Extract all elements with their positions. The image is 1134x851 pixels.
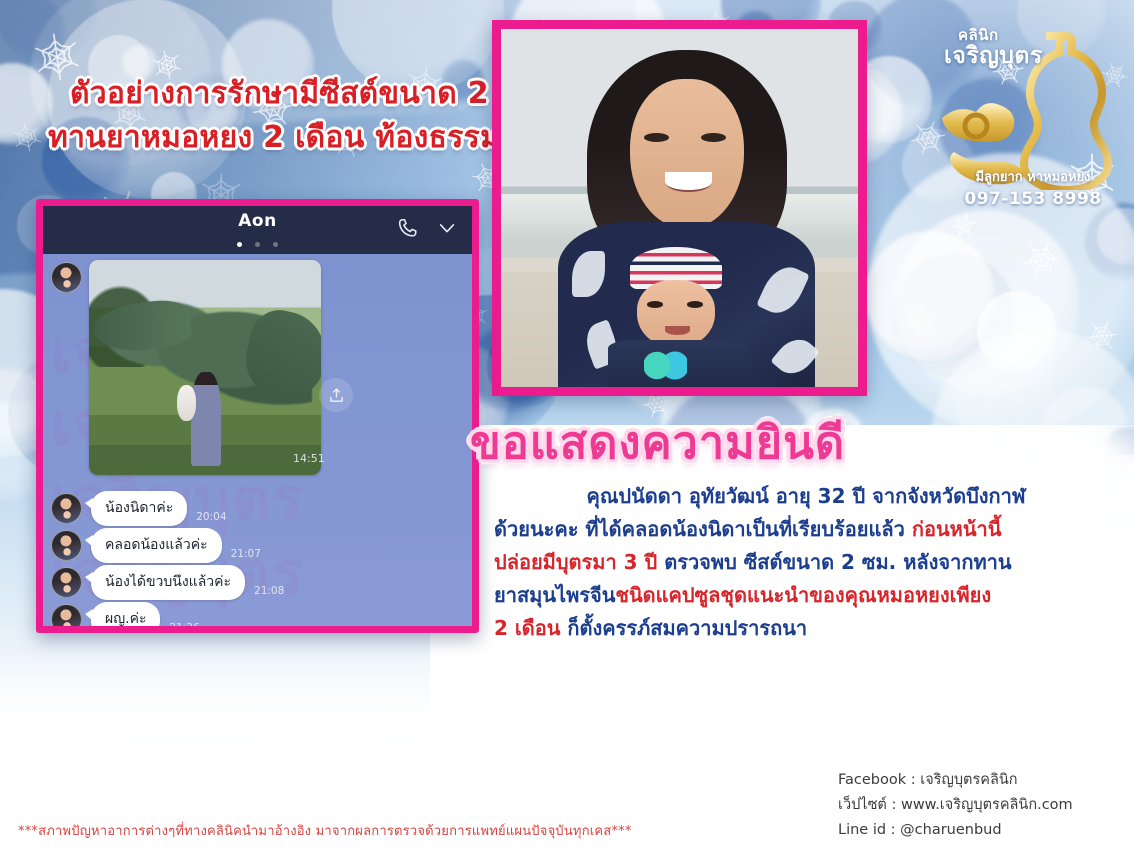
poster-root: ตัวอย่างการรักษามีซีสต์ขนาด 2 ซม. ทานยาห…	[0, 0, 1134, 851]
chat-photo-message[interactable]	[51, 260, 321, 475]
body-line-3b: ตรวจพบ ซีสต์ขนาด 2 ซม. หลังจากทาน	[657, 550, 1011, 574]
message-bubble[interactable]: น้องได้ขวบนึงแล้วค่ะ	[91, 565, 245, 600]
body-line-3a: ปล่อยมีบุตรมา 3 ปี	[494, 550, 657, 574]
body-line-2a: ด้วยนะคะ ที่ได้คลอดน้องนิดาเป็นที่เรียบร…	[494, 517, 912, 541]
page-dot-2[interactable]	[255, 242, 260, 247]
chevron-down-icon[interactable]	[436, 217, 458, 239]
chat-header: Aon	[43, 206, 472, 254]
message-timestamp: 21:26	[169, 622, 199, 633]
page-dot-3[interactable]	[273, 242, 278, 247]
message-timestamp: 20:04	[196, 511, 226, 526]
avatar	[51, 567, 82, 598]
avatar	[51, 262, 82, 293]
contact-website[interactable]: เว็ปไซต์ : www.เจริญบุตรคลินิก.com	[838, 793, 1073, 818]
avatar	[51, 530, 82, 561]
headline-line-1: ตัวอย่างการรักษามีซีสต์ขนาด 2 ซม.	[70, 72, 508, 116]
logo-tagline: มีลูกยาก หาหมอหยง	[940, 166, 1126, 187]
message-bubble[interactable]: น้องนิดาค่ะ	[91, 491, 187, 526]
chat-screenshot-card: Aon เจริญบุตร	[36, 199, 479, 633]
clinic-logo: คลินิก เจริญบุตร มีลูกยาก หาหมอหยง 097-1…	[940, 16, 1126, 221]
page-title: ตัวอย่างการรักษามีซีสต์ขนาด 2 ซม. ทานยาห…	[48, 72, 508, 160]
baby-eye-right	[687, 301, 703, 307]
message-timestamp: 21:07	[231, 548, 261, 563]
disclaimer-text: ***สภาพปัญหาอาการต่างๆที่ทางคลินิคนำมาอ้…	[18, 820, 632, 841]
message-timestamp: 21:08	[254, 585, 284, 600]
baby-eye-left	[647, 301, 663, 307]
message-bubble[interactable]: คลอดน้องแล้วค่ะ	[91, 528, 222, 563]
contact-block: Facebook : เจริญบุตรคลินิก เว็ปไซต์ : ww…	[838, 768, 1073, 843]
congratulations-heading: ขอแสดงความยินดี	[470, 406, 845, 478]
mother-face	[630, 79, 744, 229]
logo-wordmark: คลินิก เจริญบุตร	[944, 28, 1043, 68]
chat-photo-thumbnail[interactable]	[89, 260, 321, 475]
chat-message-row[interactable]: ผญ.ค่ะ 21:26	[51, 602, 200, 633]
logo-word-top: คลินิก	[958, 28, 1043, 44]
chat-message-row[interactable]: น้องนิดาค่ะ 20:04	[51, 491, 227, 526]
body-line-5: 2 เดือน ก็ตั้งครรภ์สมความปรารถนา	[494, 612, 1118, 645]
body-line-2: ด้วยนะคะ ที่ได้คลอดน้องนิดาเป็นที่เรียบร…	[494, 513, 1118, 546]
photo-woman	[191, 372, 221, 467]
contact-line-id[interactable]: Line id : @charuenbud	[838, 818, 1073, 843]
body-line-4: ยาสมุนไพรจีนชนิดแคปซูลชุดแนะนำของคุณหมอห…	[494, 579, 1118, 612]
avatar	[51, 493, 82, 524]
mother-smile	[665, 172, 711, 192]
share-upload-icon[interactable]	[319, 378, 353, 412]
body-line-4b: ชนิดแคปซูลชุดแนะนำของคุณหมอหยงเพียง	[615, 583, 991, 607]
contact-facebook[interactable]: Facebook : เจริญบุตรคลินิก	[838, 768, 1073, 793]
page-dot-1[interactable]	[237, 242, 242, 247]
chat-message-row[interactable]: น้องได้ขวบนึงแล้วค่ะ 21:08	[51, 565, 284, 600]
chat-photo-timestamp: 14:51	[293, 452, 325, 465]
baby-face	[637, 280, 716, 348]
body-line-4a: ยาสมุนไพรจีน	[494, 583, 615, 607]
body-line-5a: 2 เดือน	[494, 616, 560, 640]
testimonial-paragraph: คุณปนัดดา อุทัยวัฒน์ อายุ 32 ปี จากจังหว…	[494, 480, 1118, 645]
message-bubble[interactable]: ผญ.ค่ะ	[91, 602, 160, 633]
phone-call-icon[interactable]	[396, 217, 418, 239]
body-line-1: คุณปนัดดา อุทัยวัฒน์ อายุ 32 ปี จากจังหว…	[494, 480, 1118, 513]
mother-eye-right	[701, 133, 726, 142]
chat-message-row[interactable]: คลอดน้องแล้วค่ะ 21:07	[51, 528, 261, 563]
chat-message-list[interactable]: เจริญบุตร เจริญบุตร เจริญบุตร เจริญบุตร	[43, 254, 472, 633]
photo-baby	[177, 385, 196, 422]
logo-phone-number: 097-153 8998	[940, 189, 1126, 209]
headline-line-2: ทานยาหมอหยง 2 เดือน ท้องธรรมชาติ	[48, 116, 508, 160]
logo-word-main: เจริญบุตร	[944, 44, 1043, 68]
body-line-5b: ก็ตั้งครรภ์สมความปรารถนา	[560, 616, 807, 640]
avatar	[51, 604, 82, 633]
hero-photo-mother-and-baby	[492, 20, 867, 396]
body-line-3: ปล่อยมีบุตรมา 3 ปี ตรวจพบ ซีสต์ขนาด 2 ซม…	[494, 546, 1118, 579]
mother-eye-left	[644, 133, 669, 142]
body-line-2b: ก่อนหน้านี้	[912, 517, 1002, 541]
baby-shirt-butterfly	[644, 351, 687, 380]
